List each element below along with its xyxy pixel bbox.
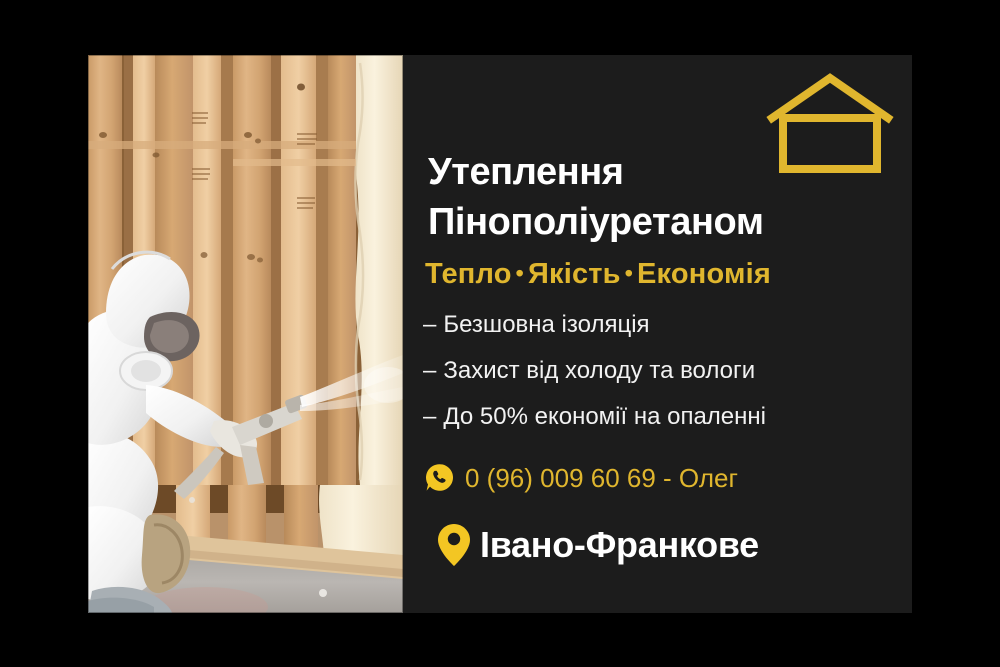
headline-line-2: Пінополіуретаном — [428, 203, 764, 241]
benefit-dash: – — [423, 357, 443, 384]
content-panel: Утеплення Пінополіуретаном Тепло•Якість•… — [403, 55, 912, 613]
tagline-separator-1: • — [512, 260, 528, 286]
contact-phone-row[interactable]: 0 (96) 009 60 69 - Олег — [425, 463, 738, 492]
map-pin-icon-svg — [437, 523, 471, 567]
benefit-dash: – — [423, 403, 443, 430]
benefit-text: До 50% економії на опаленні — [443, 403, 766, 430]
advertisement-banner: Утеплення Пінополіуретаном Тепло•Якість•… — [0, 0, 1000, 667]
benefit-text: Захист від холоду та вологи — [443, 357, 755, 384]
tagline: Тепло•Якість•Економія — [425, 260, 771, 289]
tagline-item-1: Тепло — [425, 258, 512, 290]
whatsapp-phone-icon[interactable] — [425, 463, 454, 492]
headline-line-1: Утеплення — [428, 153, 624, 191]
benefit-item: –Захист від холоду та вологи — [423, 359, 893, 383]
benefit-dash: – — [423, 311, 443, 338]
map-pin-icon — [437, 523, 471, 567]
whatsapp-phone-icon-svg — [425, 463, 454, 492]
tagline-separator-2: • — [621, 260, 637, 286]
benefits-list: –Безшовна ізоляція –Захист від холоду та… — [423, 313, 893, 451]
insulation-photo — [88, 55, 403, 613]
insulation-photo-illustration — [88, 55, 403, 613]
location-city-text: Івано-Франкове — [480, 527, 759, 563]
benefit-item: –До 50% економії на опаленні — [423, 405, 893, 429]
tagline-item-3: Економія — [637, 258, 771, 290]
benefit-text: Безшовна ізоляція — [443, 311, 649, 338]
phone-number-text[interactable]: 0 (96) 009 60 69 - Олег — [465, 465, 738, 491]
benefit-item: –Безшовна ізоляція — [423, 313, 893, 337]
location-row: Івано-Франкове — [437, 523, 759, 567]
tagline-item-2: Якість — [528, 258, 621, 290]
house-outline-icon — [765, 71, 895, 173]
house-outline-icon-svg — [765, 71, 895, 173]
